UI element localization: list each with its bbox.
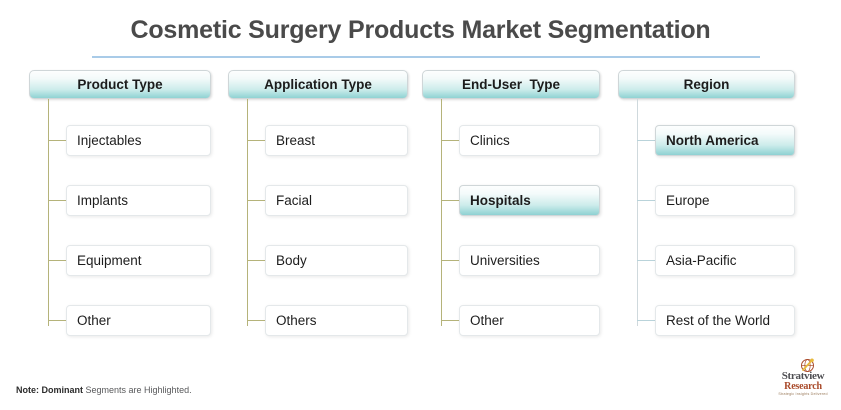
connector-stub <box>441 260 459 261</box>
connector-stub <box>48 140 66 141</box>
connector-stub <box>247 140 265 141</box>
segmentation-columns: Product TypeInjectablesImplantsEquipment… <box>0 70 841 345</box>
connector-trunk <box>441 99 442 326</box>
column-header[interactable]: Region <box>618 70 795 99</box>
segment-item[interactable]: Other <box>459 305 600 336</box>
segment-item[interactable]: Body <box>265 245 408 276</box>
segment-item[interactable]: Universities <box>459 245 600 276</box>
segment-item[interactable]: Asia-Pacific <box>655 245 795 276</box>
column-header[interactable]: End-User Type <box>422 70 600 99</box>
title-divider <box>92 56 760 58</box>
logo-subtitle: Research <box>770 381 836 392</box>
connector-trunk <box>48 99 49 326</box>
segment-item[interactable]: Breast <box>265 125 408 156</box>
segment-item-highlighted[interactable]: North America <box>655 125 795 156</box>
segmentation-column-4: RegionNorth AmericaEuropeAsia-PacificRes… <box>618 70 795 345</box>
connector-stub <box>637 140 655 141</box>
column-header[interactable]: Product Type <box>29 70 211 99</box>
column-header[interactable]: Application Type <box>228 70 408 99</box>
connector-trunk <box>637 99 638 326</box>
market-segmentation-infographic: Cosmetic Surgery Products Market Segment… <box>0 0 841 410</box>
footer-note: Note: Dominant Segments are Highlighted. <box>6 375 192 405</box>
segment-item[interactable]: Rest of the World <box>655 305 795 336</box>
segment-item[interactable]: Other <box>66 305 211 336</box>
connector-stub <box>48 260 66 261</box>
segment-item[interactable]: Europe <box>655 185 795 216</box>
segment-item[interactable]: Equipment <box>66 245 211 276</box>
logo-tagline: Strategic Insights Delivered <box>770 392 836 396</box>
segment-item[interactable]: Implants <box>66 185 211 216</box>
segmentation-column-3: End-User TypeClinicsHospitalsUniversitie… <box>422 70 600 345</box>
connector-trunk <box>247 99 248 326</box>
connector-stub <box>441 200 459 201</box>
segment-item[interactable]: Facial <box>265 185 408 216</box>
connector-stub <box>441 320 459 321</box>
footer-note-bold: Note: Dominant <box>16 385 83 395</box>
connector-stub <box>247 320 265 321</box>
connector-stub <box>48 320 66 321</box>
segment-item[interactable]: Clinics <box>459 125 600 156</box>
segmentation-column-2: Application TypeBreastFacialBodyOthers <box>228 70 408 345</box>
connector-stub <box>637 200 655 201</box>
connector-stub <box>637 260 655 261</box>
stratview-research-logo: Stratview Research Strategic Insights De… <box>770 358 836 402</box>
connector-stub <box>48 200 66 201</box>
page-title: Cosmetic Surgery Products Market Segment… <box>0 16 841 45</box>
connector-stub <box>441 140 459 141</box>
connector-stub <box>247 200 265 201</box>
segmentation-column-1: Product TypeInjectablesImplantsEquipment… <box>29 70 211 345</box>
segment-item[interactable]: Injectables <box>66 125 211 156</box>
connector-stub <box>247 260 265 261</box>
connector-stub <box>637 320 655 321</box>
segment-item-highlighted[interactable]: Hospitals <box>459 185 600 216</box>
segment-item[interactable]: Others <box>265 305 408 336</box>
footer-note-rest: Segments are Highlighted. <box>83 385 192 395</box>
